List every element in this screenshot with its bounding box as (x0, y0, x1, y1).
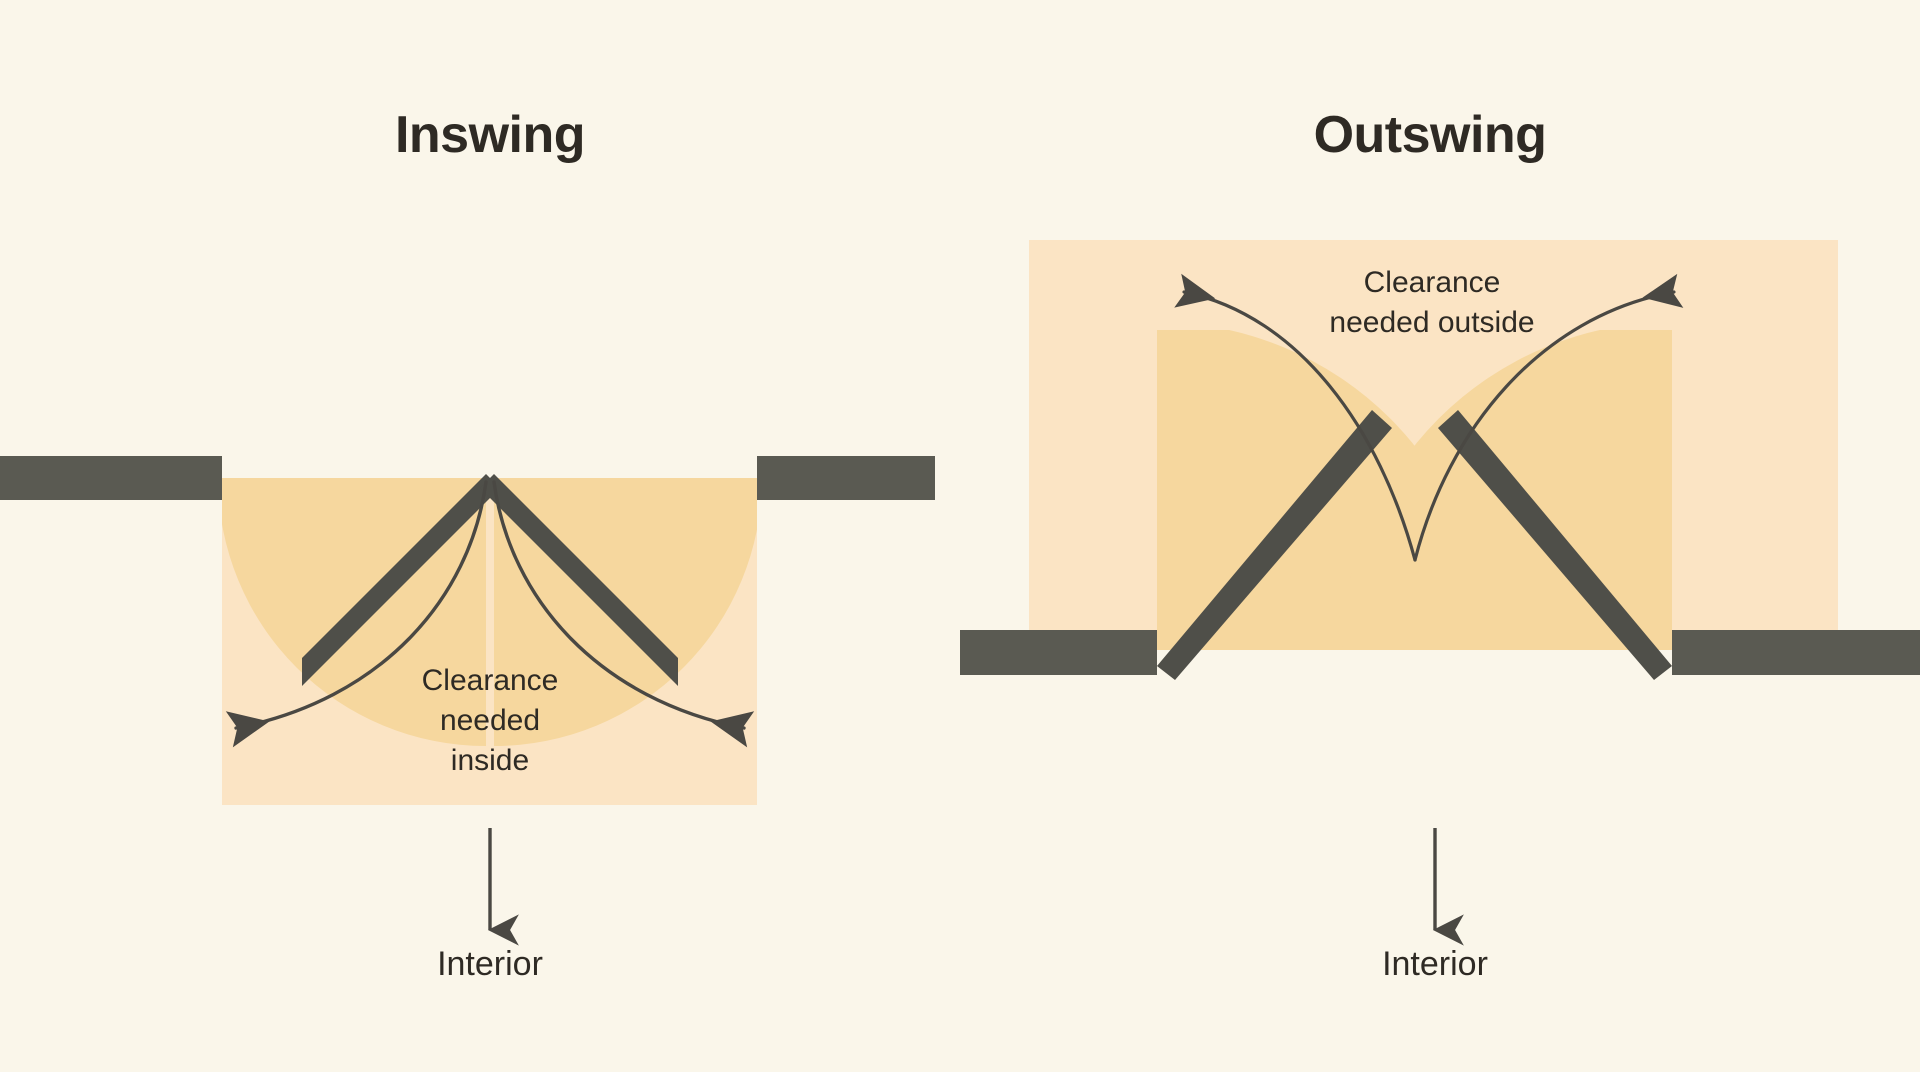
inswing-clearance-line-2: needed (440, 704, 540, 737)
outswing-interior-label: Interior (1382, 945, 1488, 983)
inswing-left-wall (0, 456, 222, 500)
inswing-interior-label: Interior (437, 945, 543, 983)
inswing-title: Inswing (395, 106, 585, 164)
diagram-canvas: Inswing Clearance needed inside Interior… (0, 0, 1920, 1072)
outswing-right-wall (1672, 630, 1920, 675)
inswing-clearance-line-1: Clearance (422, 664, 559, 697)
outswing-clearance-line-2: needed outside (1329, 306, 1534, 339)
door-swing-diagram: Inswing Clearance needed inside Interior… (0, 0, 1920, 1072)
inswing-right-wall (757, 456, 935, 500)
inswing-clearance-line-3: inside (451, 744, 529, 777)
outswing-title: Outswing (1314, 106, 1547, 164)
outswing-left-wall (960, 630, 1157, 675)
outswing-clearance-line-1: Clearance (1364, 266, 1501, 299)
